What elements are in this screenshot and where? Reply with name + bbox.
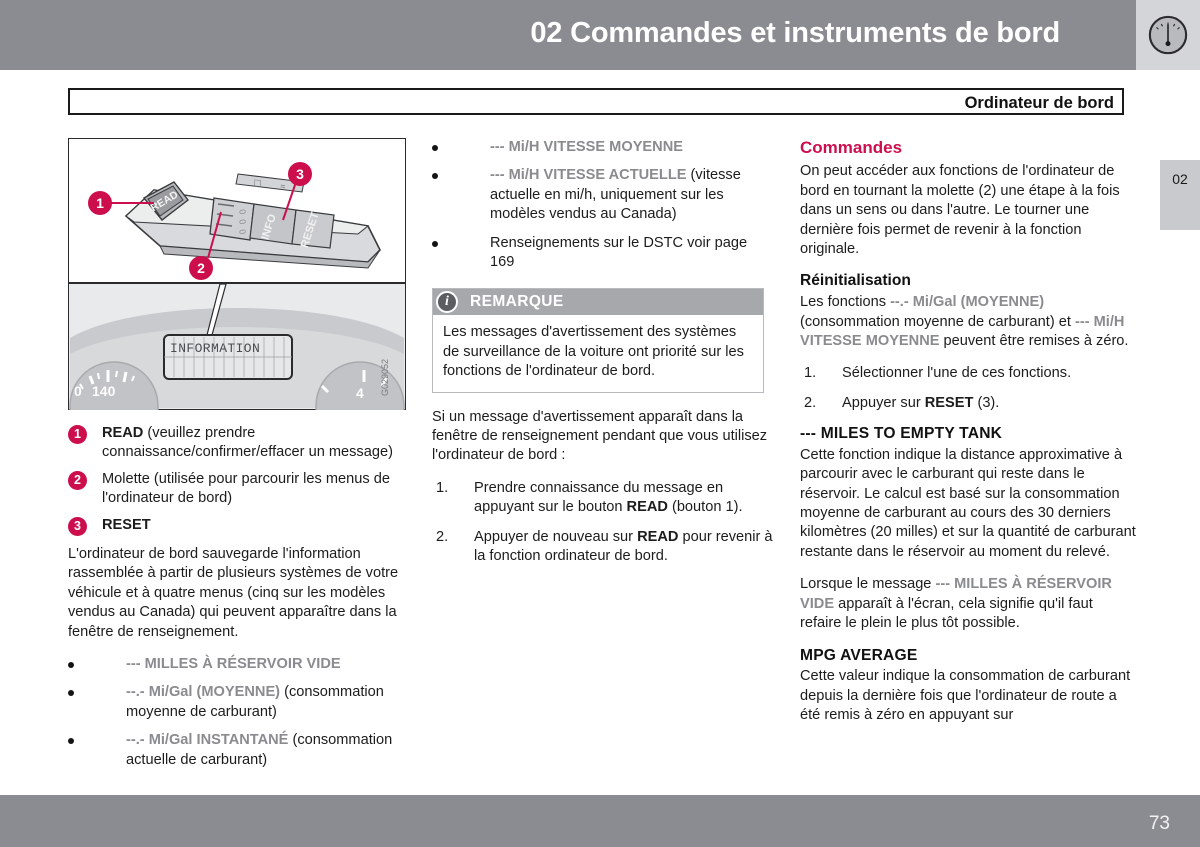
svg-text:4: 4 <box>356 385 364 401</box>
step-item: Appuyer de nouveau sur READ pour revenir… <box>432 528 774 567</box>
section-title: Ordinateur de bord <box>965 93 1114 115</box>
note-box: i REMARQUE Les messages d'avertissement … <box>432 288 764 392</box>
note-body: Les messages d'avertissement des système… <box>433 315 763 391</box>
step-bold: RESET <box>925 395 974 411</box>
reinit-text-3: peuvent être remises à zéro. <box>939 333 1128 349</box>
left-menu-list: --- MILLES À RÉSERVOIR VIDE --.- Mi/Gal … <box>68 655 406 770</box>
svg-text:INFORMATION: INFORMATION <box>170 341 260 356</box>
middle-column: --- Mi/H VITESSE MOYENNE --- Mi/H VITESS… <box>432 138 774 579</box>
reinit-term-1: --.- Mi/Gal (MOYENNE) <box>890 294 1044 310</box>
legend-text-2: Molette (utilisée pour parcourir les men… <box>102 471 390 506</box>
legend-text-1: (veuillez prendre connaissance/confirmer… <box>102 425 393 460</box>
section-title-bar: Ordinateur de bord <box>68 88 1124 115</box>
legend-term-1: READ <box>102 425 143 441</box>
svg-text:0: 0 <box>74 383 82 399</box>
callout-badge-2: 2 <box>68 471 87 490</box>
svg-text:2: 2 <box>197 260 205 276</box>
chapter-icon-box <box>1136 0 1200 70</box>
svg-text:1: 1 <box>96 195 104 211</box>
paragraph-commandes: On peut accéder aux fonctions de l'ordin… <box>800 162 1138 259</box>
lorsque-text-2: apparaît à l'écran, cela signifie qu'il … <box>800 596 1093 631</box>
chapter-title: 02 Commandes et instruments de bord <box>530 14 1060 53</box>
step-bold: READ <box>637 529 678 545</box>
menu-term: --- Mi/H VITESSE ACTUELLE <box>490 167 686 183</box>
chapter-header-bar: 02 Commandes et instruments de bord <box>0 0 1200 70</box>
left-intro-paragraph: L'ordinateur de bord sauvegarde l'inform… <box>68 545 406 642</box>
step-text-pre: Appuyer sur <box>842 395 925 411</box>
legend-item-2: 2 Molette (utilisée pour parcourir les m… <box>68 470 406 509</box>
paragraph-miles: Cette fonction indique la distance appro… <box>800 446 1138 562</box>
note-title: REMARQUE <box>470 292 564 313</box>
svg-text:140: 140 <box>92 383 116 399</box>
side-tab-label: 02 <box>1172 170 1188 189</box>
stalk-illustration: READ 0 0 0 <box>68 138 406 410</box>
chapter-side-tab: 02 <box>1160 160 1200 230</box>
step-text-pre: Sélectionner l'une de ces fonctions. <box>842 365 1071 381</box>
mid-steps: Prendre connaissance du message en appuy… <box>432 479 774 567</box>
paragraph-reinitialisation: Les fonctions --.- Mi/Gal (MOYENNE) (con… <box>800 293 1138 351</box>
legend-item-1: 1 READ (veuillez prendre connaissance/co… <box>68 424 406 463</box>
info-icon: i <box>436 291 458 313</box>
page-number: 73 <box>1149 811 1170 836</box>
menu-term: --- Mi/H VITESSE MOYENNE <box>490 139 683 155</box>
lorsque-text-1: Lorsque le message <box>800 576 935 592</box>
legend-term-3: RESET <box>102 517 151 533</box>
left-column: READ 0 0 0 <box>68 138 406 781</box>
heading-miles-to-empty-tank: --- MILES TO EMPTY TANK <box>800 425 1138 444</box>
step-text-pre: Appuyer de nouveau sur <box>474 529 637 545</box>
callout-3: 3 <box>288 162 312 186</box>
note-header: i REMARQUE <box>433 289 763 315</box>
callout-badge-1: 1 <box>68 425 87 444</box>
legend-item-3: 3 RESET <box>68 516 406 535</box>
list-item: Renseignements sur le DSTC voir page 169 <box>432 234 774 273</box>
callout-2: 2 <box>189 256 213 280</box>
illustration-image-id: G029052 <box>380 359 390 396</box>
svg-text:☐: ☐ <box>253 178 262 189</box>
menu-term: --- MILLES À RÉSERVOIR VIDE <box>126 656 341 672</box>
mid-paragraph: Si un message d'avertissement apparaît d… <box>432 408 774 466</box>
list-item: --- Mi/H VITESSE MOYENNE <box>432 138 774 157</box>
footer-bar <box>0 795 1200 847</box>
reinit-text-2: (consommation moyenne de carburant) et <box>800 314 1075 330</box>
list-item: --.- Mi/Gal INSTANTANÉ (consommation act… <box>68 731 406 770</box>
step-text-post: (bouton 1). <box>668 499 743 515</box>
heading-commandes: Commandes <box>800 138 1138 158</box>
callout-legend: 1 READ (veuillez prendre connaissance/co… <box>68 424 406 535</box>
manual-page: 02 Commandes et instruments de bord Ordi… <box>0 0 1200 847</box>
callout-badge-3: 3 <box>68 517 87 536</box>
step-bold: READ <box>627 499 668 515</box>
step-text-post: (3). <box>973 395 999 411</box>
gauge-icon <box>1147 14 1189 56</box>
paragraph-lorsque: Lorsque le message --- MILLES À RÉSERVOI… <box>800 575 1138 633</box>
callout-1: 1 <box>88 191 112 215</box>
step-item: Sélectionner l'une de ces fonctions. <box>800 364 1138 383</box>
list-item: --- MILLES À RÉSERVOIR VIDE <box>68 655 406 674</box>
paragraph-mpg: Cette valeur indique la consommation de … <box>800 667 1138 725</box>
right-column: Commandes On peut accéder aux fonctions … <box>800 138 1138 738</box>
step-item: Appuyer sur RESET (3). <box>800 394 1138 413</box>
heading-reinitialisation: Réinitialisation <box>800 272 1138 291</box>
menu-term: --.- Mi/Gal (MOYENNE) <box>126 684 280 700</box>
mid-menu-list: --- Mi/H VITESSE MOYENNE --- Mi/H VITESS… <box>432 138 774 272</box>
list-item: --- Mi/H VITESSE ACTUELLE (vitesse actue… <box>432 166 774 224</box>
reinit-text-1: Les fonctions <box>800 294 890 310</box>
menu-desc: Renseignements sur le DSTC voir page 169 <box>490 235 747 270</box>
right-steps: Sélectionner l'une de ces fonctions. App… <box>800 364 1138 413</box>
menu-term: --.- Mi/Gal INSTANTANÉ <box>126 732 288 748</box>
step-item: Prendre connaissance du message en appuy… <box>432 479 774 518</box>
list-item: --.- Mi/Gal (MOYENNE) (consommation moye… <box>68 683 406 722</box>
heading-mpg-average: MPG AVERAGE <box>800 647 1138 666</box>
svg-text:3: 3 <box>296 166 304 182</box>
